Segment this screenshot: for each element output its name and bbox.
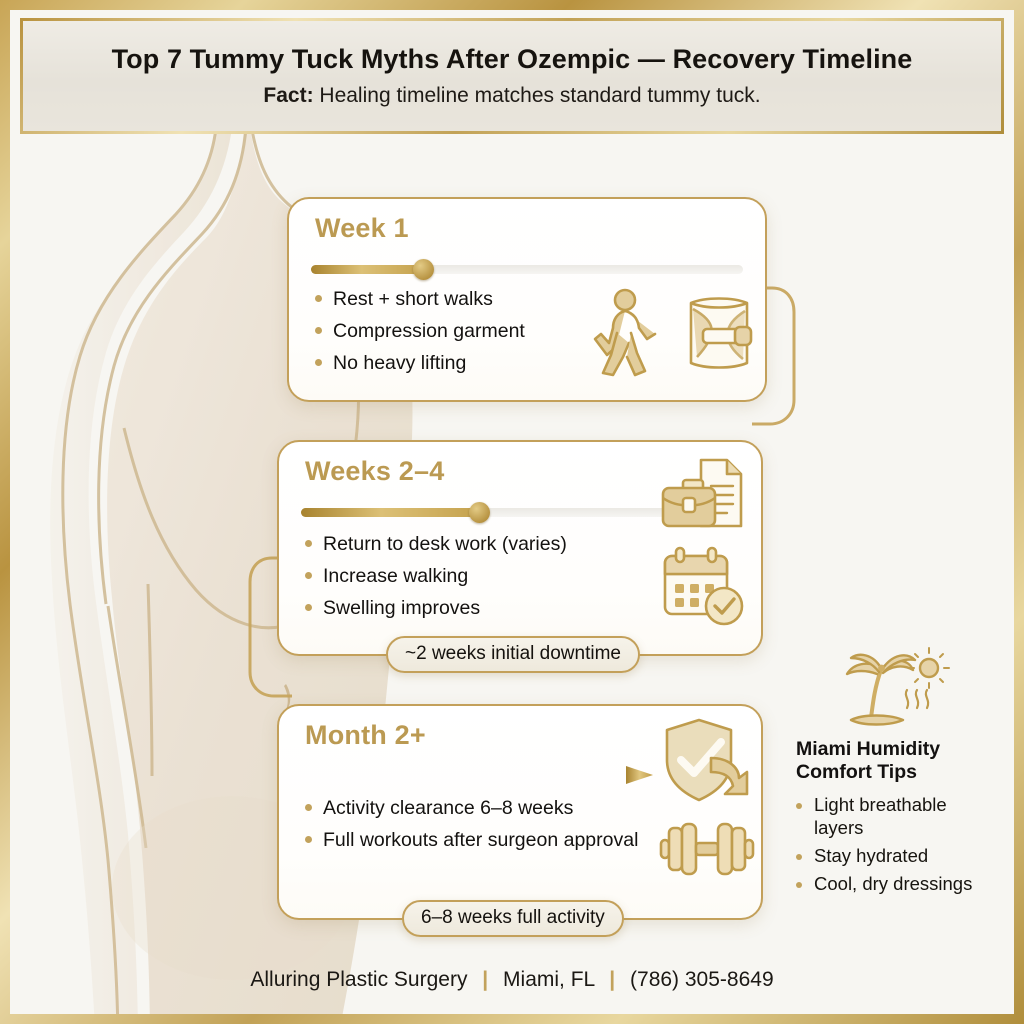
palm-tree-sun-humidity-icon	[837, 646, 955, 732]
content-stage: Week 1 Rest + short walks Compression ga…	[10, 138, 1014, 1014]
compression-garment-icon	[675, 287, 763, 379]
progress-track-weeks2to4[interactable]	[301, 508, 671, 517]
infographic-poster: Top 7 Tummy Tuck Myths After Ozempic — R…	[0, 0, 1024, 1024]
list-item: Increase walking	[301, 562, 651, 590]
progress-knob[interactable]	[469, 502, 490, 523]
page-subtitle: Fact: Healing timeline matches standard …	[263, 84, 760, 107]
progress-arrow-month2plus[interactable]	[301, 764, 661, 786]
progress-fill	[311, 265, 423, 274]
tips-list: Light breathable layers Stay hydrated Co…	[796, 793, 996, 896]
list-item: Activity clearance 6–8 weeks	[301, 794, 661, 822]
card-bullet-list: Rest + short walks Compression garment N…	[311, 285, 611, 381]
timeline-card-month2plus[interactable]: Month 2+	[277, 704, 763, 920]
card3-icon-group	[657, 716, 757, 880]
list-item: Rest + short walks	[311, 285, 611, 313]
footer-contact: Alluring Plastic Surgery | Miami, FL | (…	[10, 968, 1014, 992]
badge-downtime: ~2 weeks initial downtime	[386, 636, 640, 673]
briefcase-document-icon	[657, 454, 749, 538]
progress-fill	[301, 508, 479, 517]
card-bullet-list: Return to desk work (varies) Increase wa…	[301, 530, 651, 626]
list-item: Return to desk work (varies)	[301, 530, 651, 558]
header-banner: Top 7 Tummy Tuck Myths After Ozempic — R…	[20, 18, 1004, 134]
footer-separator: |	[473, 968, 497, 991]
list-item: Full workouts after surgeon approval	[301, 826, 661, 854]
subtitle-text: Healing timeline matches standard tummy …	[314, 84, 761, 107]
footer-phone[interactable]: (786) 305-8649	[630, 968, 774, 991]
card2-icon-group	[657, 454, 749, 632]
timeline-card-week1[interactable]: Week 1 Rest + short walks Compression ga…	[287, 197, 767, 402]
progress-track-week1[interactable]	[311, 265, 743, 274]
card-title: Weeks 2–4	[305, 456, 444, 487]
tips-heading: Miami Humidity Comfort Tips	[796, 738, 996, 785]
dumbbell-icon	[657, 818, 757, 880]
page-title: Top 7 Tummy Tuck Myths After Ozempic — R…	[112, 45, 913, 75]
card1-icon-group	[589, 287, 763, 379]
timeline-card-weeks2to4[interactable]: Weeks 2–4 Return to desk work (varies) I…	[277, 440, 763, 656]
card-title: Week 1	[315, 213, 409, 244]
footer-practice: Alluring Plastic Surgery	[250, 968, 467, 991]
timeline-arrow-icon	[301, 764, 661, 786]
card-title: Month 2+	[305, 720, 426, 751]
list-item: Stay hydrated	[796, 844, 996, 868]
list-item: Cool, dry dressings	[796, 872, 996, 896]
walking-person-icon	[589, 287, 663, 379]
miami-humidity-tips: Miami Humidity Comfort Tips Light breath…	[796, 646, 996, 899]
list-item: Light breathable layers	[796, 793, 996, 840]
calendar-check-icon	[657, 544, 749, 632]
badge-full-activity: 6–8 weeks full activity	[402, 900, 624, 937]
list-item: Swelling improves	[301, 594, 651, 622]
shield-check-arrow-icon	[659, 716, 755, 808]
subtitle-label: Fact:	[263, 84, 313, 107]
card-bullet-list: Activity clearance 6–8 weeks Full workou…	[301, 794, 661, 858]
list-item: No heavy lifting	[311, 349, 611, 377]
footer-location: Miami, FL	[503, 968, 594, 991]
list-item: Compression garment	[311, 317, 611, 345]
progress-knob[interactable]	[413, 259, 434, 280]
poster-inner: Top 7 Tummy Tuck Myths After Ozempic — R…	[10, 10, 1014, 1014]
footer-separator: |	[600, 968, 624, 991]
